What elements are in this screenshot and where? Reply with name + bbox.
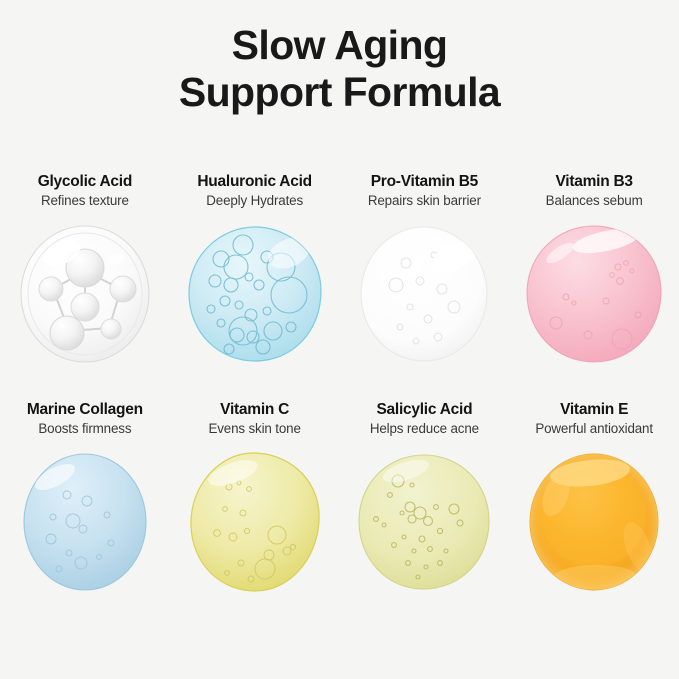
clear-gel-droplet-icon <box>350 223 498 365</box>
ingredient-card-hualuronic-acid: Hualuronic Acid Deeply Hydrates <box>170 160 340 388</box>
ingredient-card-vitamin-e: Vitamin E Powerful antioxidant <box>509 388 679 616</box>
page-title: Slow Aging Support Formula <box>0 0 679 116</box>
pale-yellow-oil-droplet-icon <box>181 451 329 593</box>
ingredient-name: Vitamin C <box>220 400 289 419</box>
ingredient-name: Hualuronic Acid <box>197 172 312 191</box>
pink-gel-droplet-icon <box>520 223 668 365</box>
green-yellow-gel-droplet-icon <box>350 451 498 593</box>
ingredient-desc: Balances sebum <box>546 192 643 210</box>
title-line-2: Support Formula <box>0 69 679 116</box>
ingredient-desc: Evens skin tone <box>208 420 300 438</box>
title-line-1: Slow Aging <box>0 22 679 69</box>
ingredient-desc: Helps reduce acne <box>370 420 479 438</box>
ingredient-name: Glycolic Acid <box>38 172 132 191</box>
ingredient-name: Salicylic Acid <box>376 400 472 419</box>
bubbly-cyan-droplet-icon <box>181 223 329 365</box>
pale-blue-gel-droplet-icon <box>11 451 159 593</box>
ingredient-name: Pro-Vitamin B5 <box>371 172 478 191</box>
ingredient-desc: Powerful antioxidant <box>535 420 653 438</box>
clear-molecule-droplet-icon <box>11 223 159 365</box>
ingredient-card-pro-vitamin-b5: Pro-Vitamin B5 Repairs skin barrier <box>340 160 510 388</box>
ingredient-name: Vitamin B3 <box>555 172 632 191</box>
ingredient-card-salicylic-acid: Salicylic Acid Helps reduce acne <box>340 388 510 616</box>
ingredient-desc: Boosts firmness <box>38 420 131 438</box>
ingredient-card-glycolic-acid: Glycolic Acid Refines texture <box>0 160 170 388</box>
ingredient-card-vitamin-c: Vitamin C Evens skin tone <box>170 388 340 616</box>
ingredient-desc: Repairs skin barrier <box>368 192 481 210</box>
ingredient-name: Vitamin E <box>560 400 628 419</box>
amber-oil-droplet-icon <box>520 451 668 593</box>
ingredient-grid: Glycolic Acid Refines texture <box>0 160 679 616</box>
ingredient-desc: Deeply Hydrates <box>206 192 303 210</box>
ingredient-card-vitamin-b3: Vitamin B3 Balances sebum <box>509 160 679 388</box>
ingredient-card-marine-collagen: Marine Collagen Boosts firmness <box>0 388 170 616</box>
ingredient-desc: Refines texture <box>41 192 129 210</box>
ingredient-infographic: Slow Aging Support Formula Glycolic Acid… <box>0 0 679 679</box>
ingredient-name: Marine Collagen <box>27 400 143 419</box>
